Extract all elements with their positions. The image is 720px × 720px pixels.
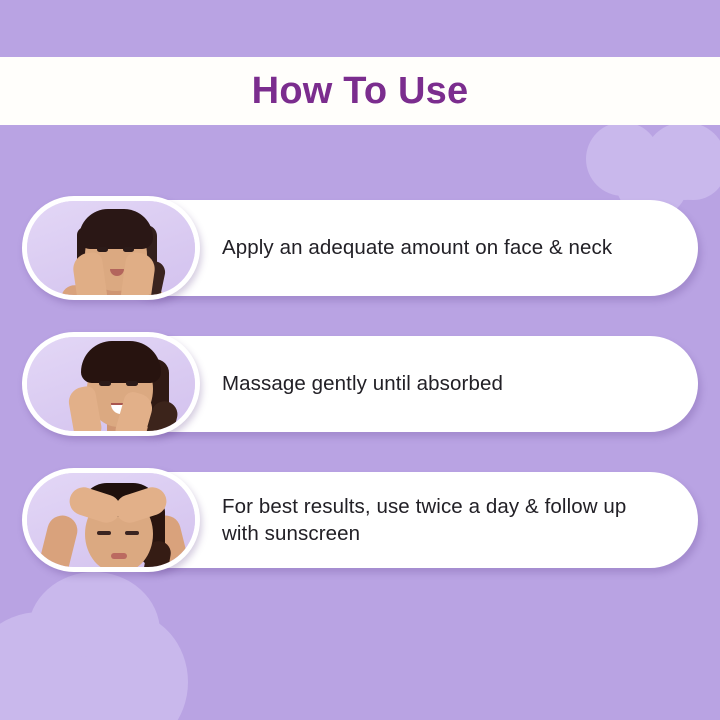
step-thumbnail [22, 332, 200, 436]
step-text: For best results, use twice a day & foll… [222, 472, 658, 568]
list-item: Massage gently until absorbed [0, 332, 720, 432]
list-item: Apply an adequate amount on face & neck [0, 196, 720, 296]
step-thumbnail [22, 196, 200, 300]
step-image-3 [27, 473, 195, 567]
step-text: Apply an adequate amount on face & neck [222, 200, 658, 296]
title-banner: How To Use [0, 57, 720, 125]
step-text: Massage gently until absorbed [222, 336, 658, 432]
steps-list: Apply an adequate amount on face & neck [0, 196, 720, 604]
list-item: For best results, use twice a day & foll… [0, 468, 720, 568]
step-image-2 [27, 337, 195, 431]
step-thumbnail [22, 468, 200, 572]
how-to-use-page: How To Use Apply an adequate amount on f… [0, 0, 720, 720]
page-title: How To Use [252, 72, 469, 110]
step-image-1 [27, 201, 195, 295]
